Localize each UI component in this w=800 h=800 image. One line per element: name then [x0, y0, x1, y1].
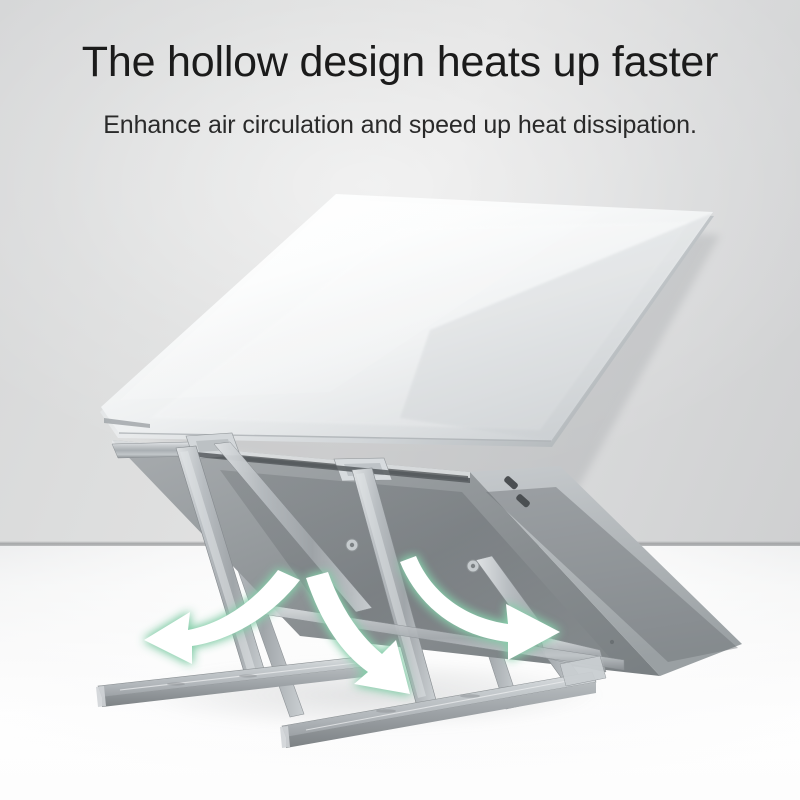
product-feature-image: The hollow design heats up faster Enhanc…: [0, 0, 800, 800]
product-illustration: [0, 0, 800, 800]
product-scene: [0, 0, 800, 800]
base-rail-rear: [96, 656, 372, 707]
stand-base-rails: [96, 656, 606, 748]
